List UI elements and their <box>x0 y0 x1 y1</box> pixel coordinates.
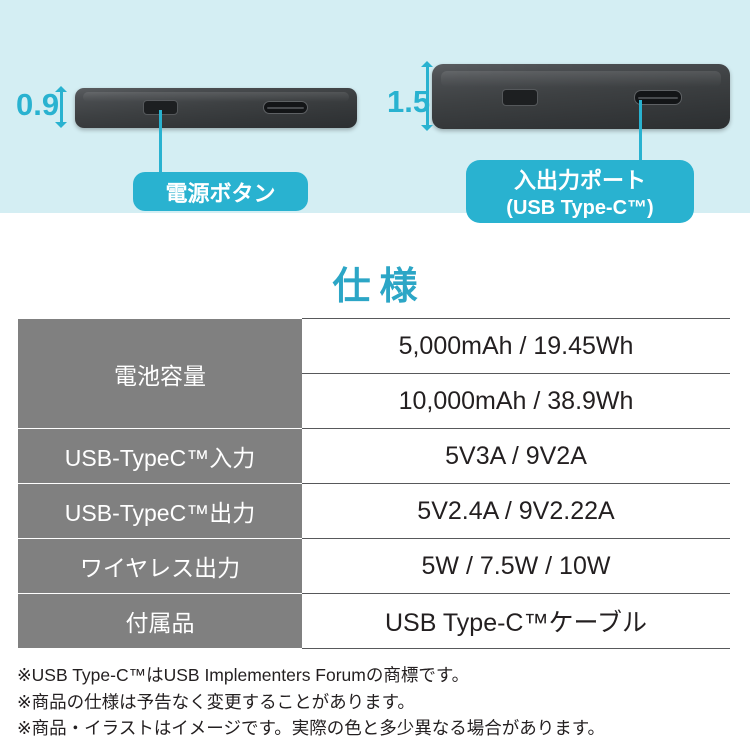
spec-value-battery-5000: 5,000mAh / 19.45Wh <box>302 319 730 374</box>
footnotes: ※USB Type-C™はUSB Implementers Forumの商標です… <box>17 662 605 742</box>
table-row: 電池容量 5,000mAh / 19.45Wh <box>18 319 730 374</box>
callout-badge-io-label-line1: 入出力ポート <box>514 163 646 195</box>
footnote-line-2: ※商品の仕様は予告なく変更することがあります。 <box>17 689 605 716</box>
callout-leader-line-power <box>159 110 162 172</box>
callout-badge-power-label: 電源ボタン <box>165 176 275 208</box>
power-button-icon-2 <box>502 89 538 106</box>
spec-label-usbc-input: USB-TypeC™入力 <box>18 429 302 484</box>
device-thin-side-view <box>75 88 357 128</box>
usb-c-port-icon <box>263 101 308 114</box>
footnote-line-1: ※USB Type-C™はUSB Implementers Forumの商標です… <box>17 662 605 689</box>
spec-value-wireless-output: 5W / 7.5W / 10W <box>302 539 730 594</box>
spec-value-usbc-output: 5V2.4A / 9V2.22A <box>302 484 730 539</box>
table-row: ワイヤレス出力 5W / 7.5W / 10W <box>18 539 730 594</box>
spec-label-battery: 電池容量 <box>18 319 302 429</box>
table-row: USB-TypeC™出力 5V2.4A / 9V2.22A <box>18 484 730 539</box>
table-row: USB-TypeC™入力 5V3A / 9V2A <box>18 429 730 484</box>
spec-value-battery-10000: 10,000mAh / 38.9Wh <box>302 374 730 429</box>
spec-value-accessories: USB Type-C™ケーブル <box>302 594 730 649</box>
spec-label-wireless-output: ワイヤレス出力 <box>18 539 302 594</box>
spec-table: 電池容量 5,000mAh / 19.45Wh 10,000mAh / 38.9… <box>18 318 730 649</box>
spec-title: 仕様 <box>0 255 750 310</box>
spec-value-usbc-input: 5V3A / 9V2A <box>302 429 730 484</box>
device-thick-side-view <box>432 64 730 129</box>
dimension-arrow-icon-thin <box>55 86 68 128</box>
callout-leader-line-port <box>639 100 642 160</box>
dimension-arrow-icon-thick <box>421 61 434 131</box>
footnote-line-3: ※商品・イラストはイメージです。実際の色と多少異なる場合があります。 <box>17 715 605 742</box>
callout-badge-io-label-line2: (USB Type-C™) <box>506 197 653 220</box>
thickness-label-thin: 0.9 <box>16 89 59 120</box>
callout-badge-power-button: 電源ボタン <box>133 172 308 211</box>
spec-label-usbc-output: USB-TypeC™出力 <box>18 484 302 539</box>
callout-badge-io-port: 入出力ポート (USB Type-C™) <box>466 160 694 223</box>
spec-label-accessories: 付属品 <box>18 594 302 649</box>
table-row: 付属品 USB Type-C™ケーブル <box>18 594 730 649</box>
